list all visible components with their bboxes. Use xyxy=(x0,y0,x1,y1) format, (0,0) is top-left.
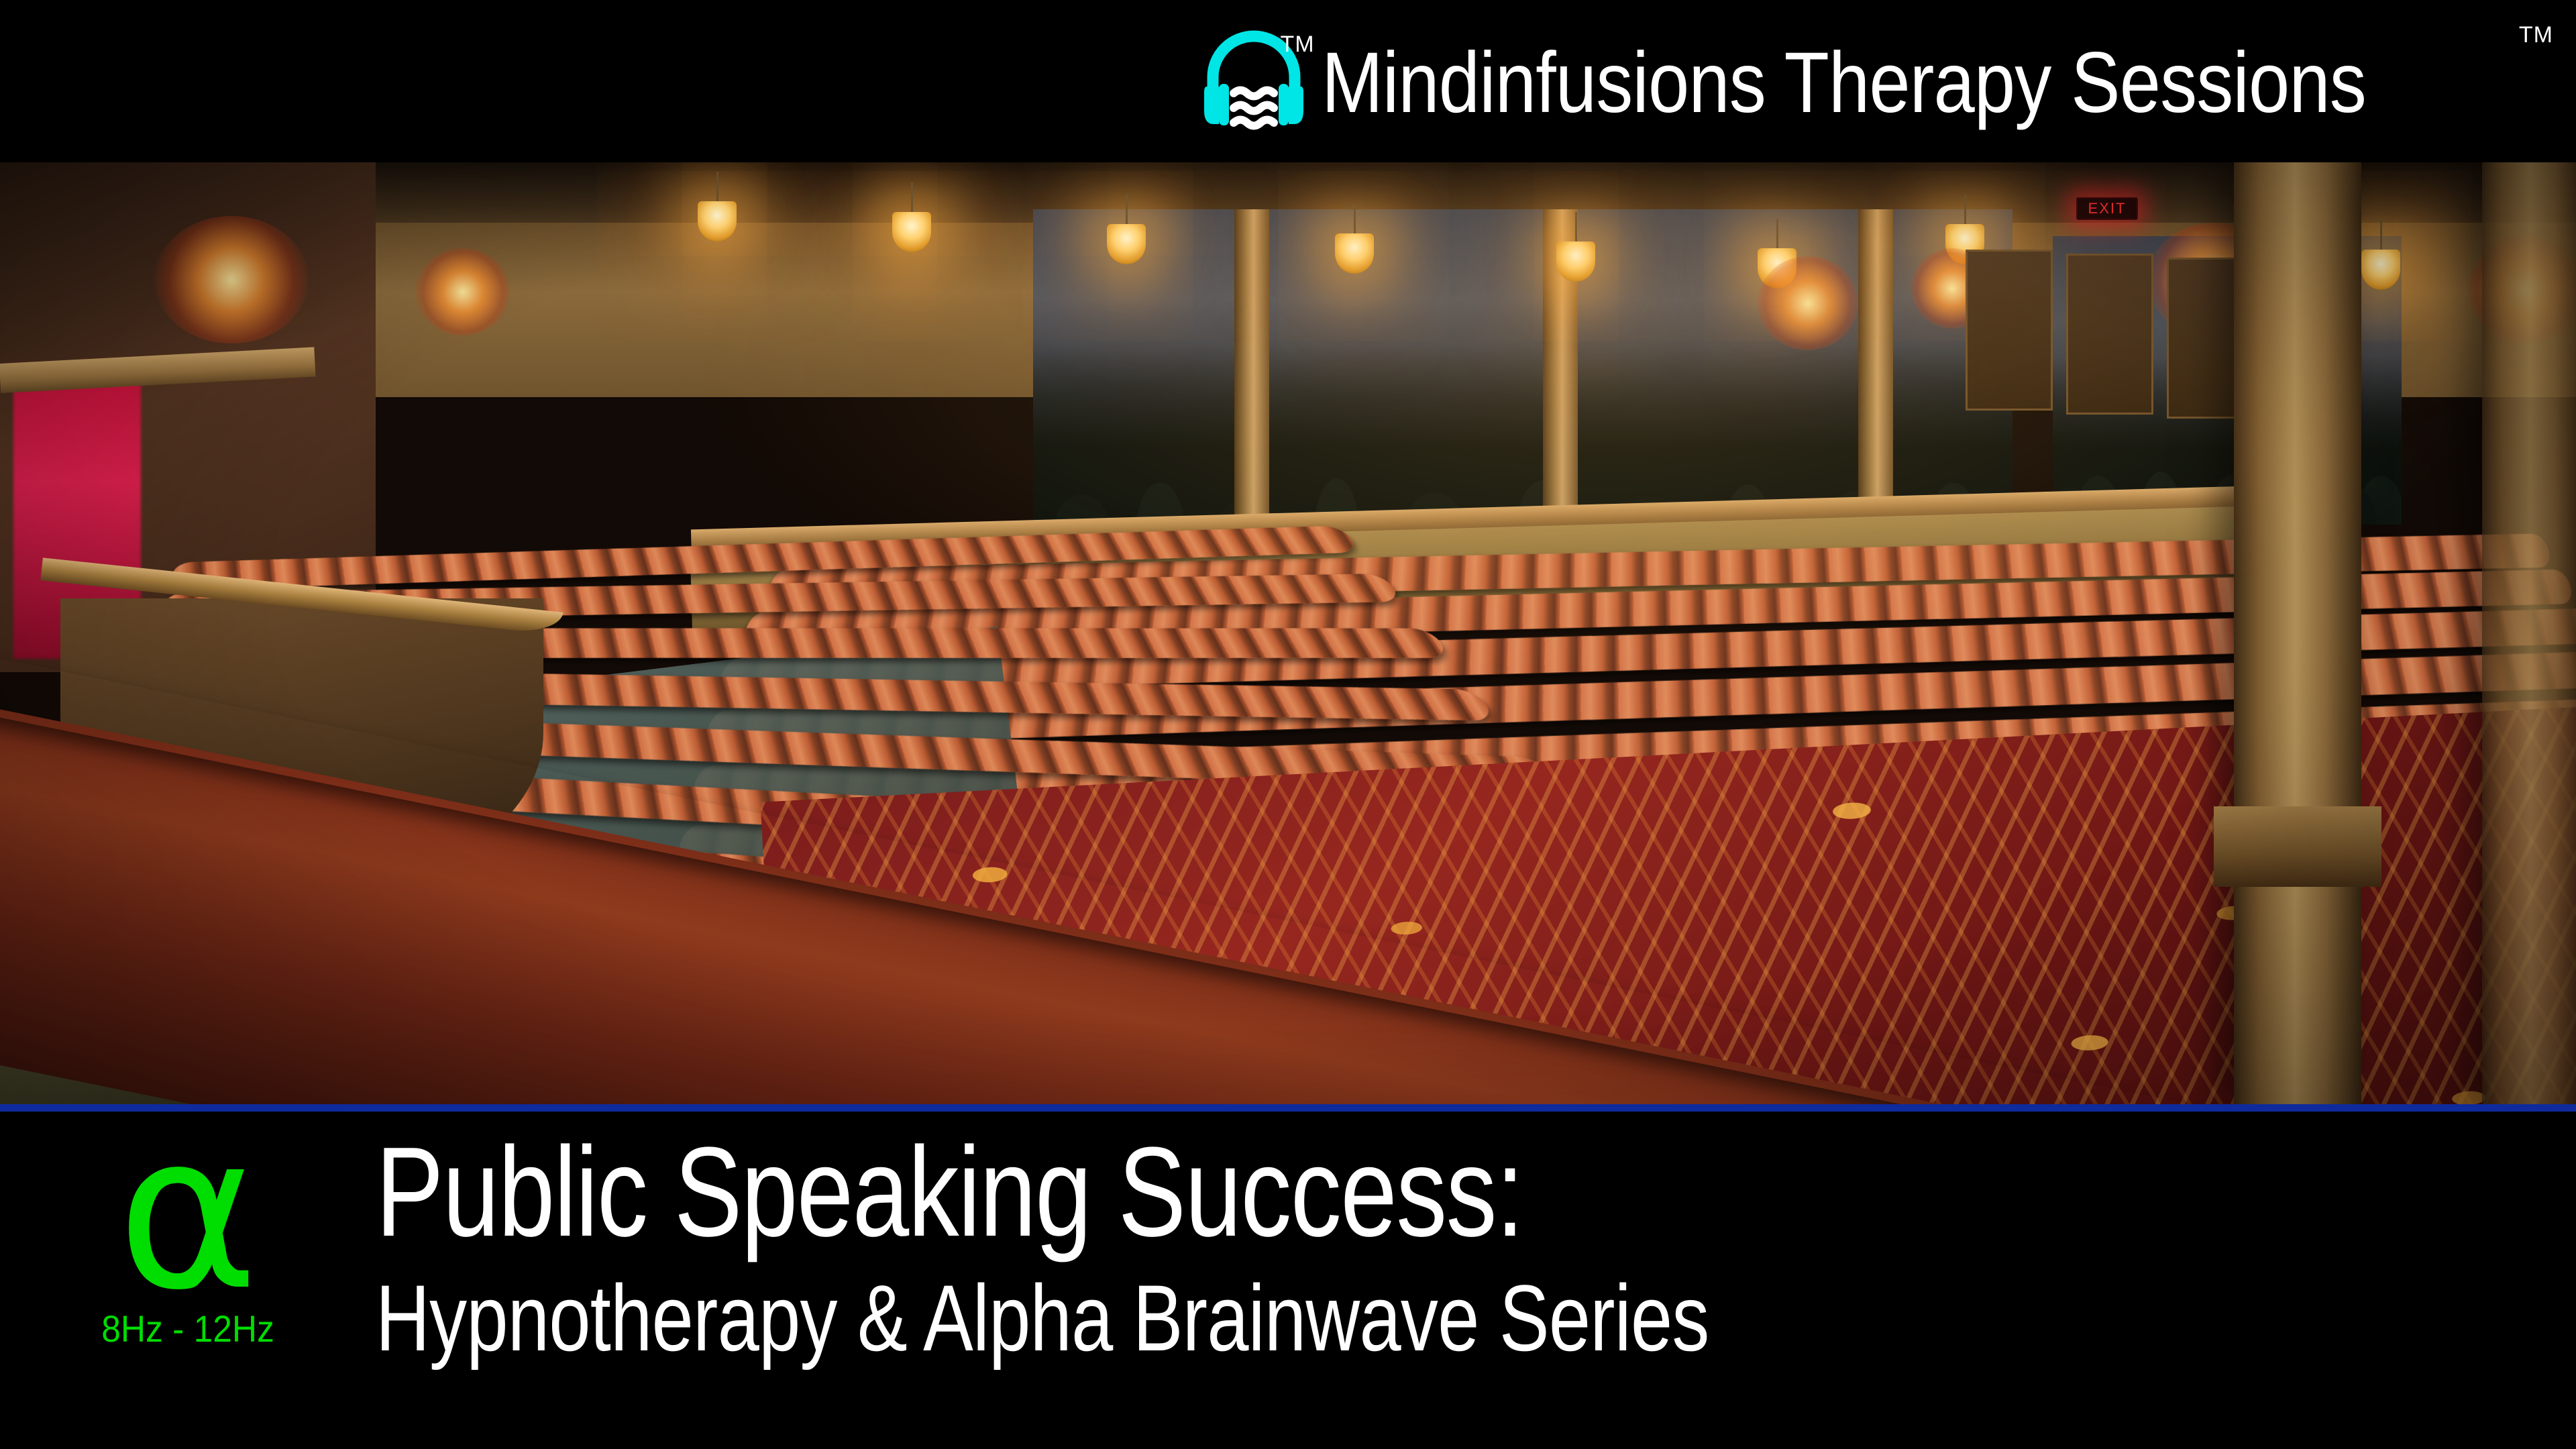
column-base xyxy=(2214,806,2381,887)
frequency-range-label: 8Hz - 12Hz xyxy=(101,1307,274,1350)
blue-divider-line xyxy=(0,1104,2576,1112)
title-trademark-symbol: TM xyxy=(2519,22,2553,48)
alpha-brainwave-badge: α 8Hz - 12Hz xyxy=(0,1112,376,1350)
structural-column xyxy=(2234,162,2361,1106)
wall-sconce-light xyxy=(154,216,309,343)
pendant-light xyxy=(1556,241,1595,282)
rear-door xyxy=(1966,250,2053,411)
logo-trademark-symbol: TM xyxy=(1281,32,1315,58)
pendant-light xyxy=(892,212,931,252)
theater-auditorium-photo: EXIT xyxy=(0,162,2576,1106)
program-title: Public Speaking Success: xyxy=(376,1128,2136,1258)
mural-pillar xyxy=(1234,209,1269,531)
forest-mural-backdrop xyxy=(1033,209,2012,531)
pendant-light xyxy=(1335,233,1374,274)
wall-sconce-light xyxy=(416,248,510,335)
exit-sign: EXIT xyxy=(2076,197,2138,220)
brand-name: Mindinfusions Therapy Sessions xyxy=(1322,36,2366,126)
mindinfusions-logo: TM xyxy=(1203,28,1304,135)
pendant-light xyxy=(1107,224,1146,264)
cover-art-page: TM Mindinfusions Therapy Sessions TM xyxy=(0,0,2576,1449)
alpha-symbol: α xyxy=(117,1121,259,1305)
rear-door xyxy=(2066,254,2153,415)
pendant-light xyxy=(698,201,737,241)
mural-pillar xyxy=(1858,209,1893,531)
brand-lockup: TM Mindinfusions Therapy Sessions TM xyxy=(1203,28,2536,135)
structural-column xyxy=(2482,162,2576,1106)
title-text-block: Public Speaking Success: Hypnotherapy & … xyxy=(376,1112,2576,1368)
program-subtitle: Hypnotherapy & Alpha Brainwave Series xyxy=(376,1267,2136,1368)
wall-sconce-light xyxy=(1758,256,1858,350)
title-footer-bar: α 8Hz - 12Hz Public Speaking Success: Hy… xyxy=(0,1112,2576,1449)
brand-header-bar: TM Mindinfusions Therapy Sessions TM xyxy=(0,0,2576,162)
pendant-light xyxy=(2361,250,2400,290)
